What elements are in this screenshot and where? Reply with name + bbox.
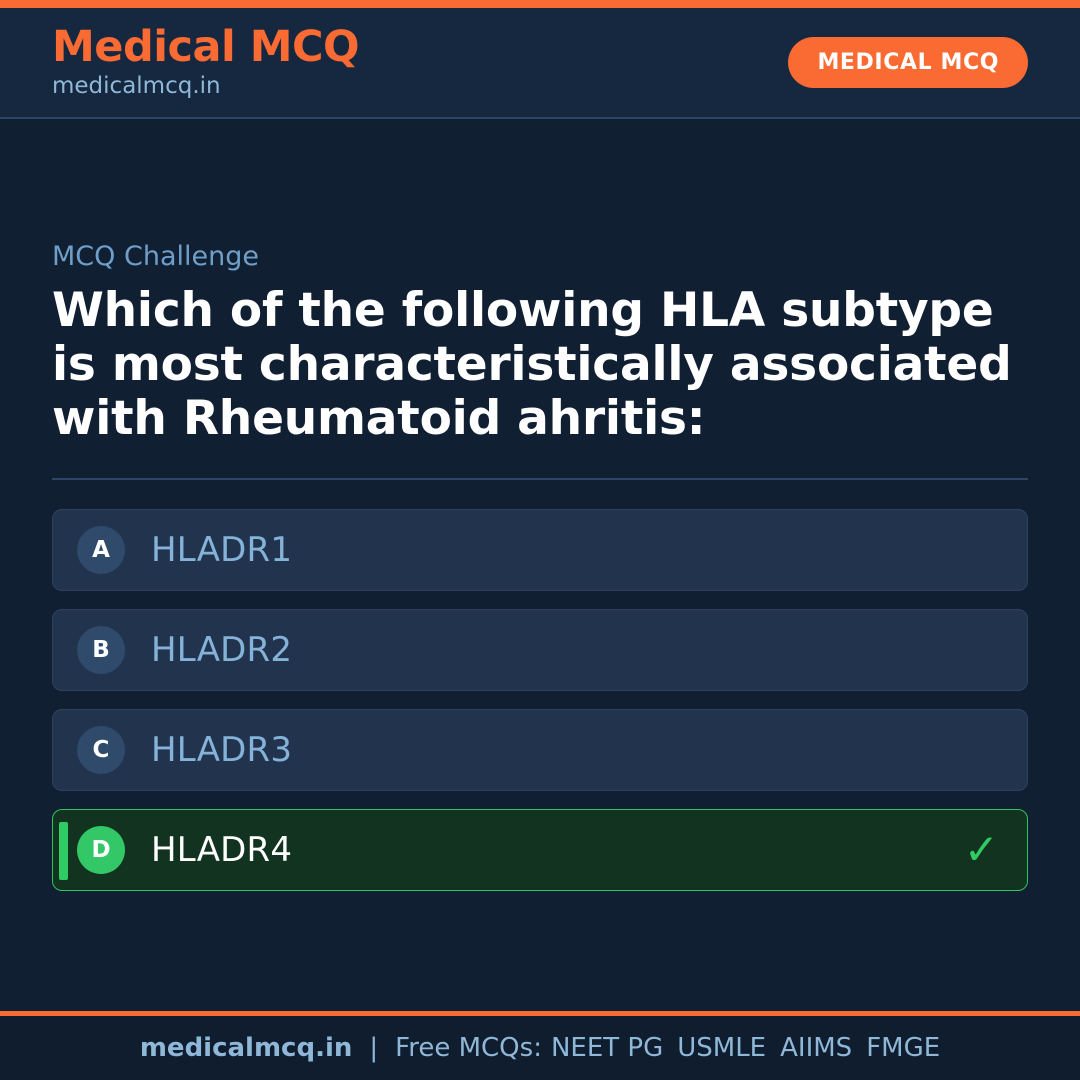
header-bar: Medical MCQ medicalmcq.in MEDICAL MCQ (0, 8, 1080, 119)
footer-label: Free MCQs: (395, 1033, 542, 1063)
option-letter-badge: C (77, 726, 125, 774)
option-label: HLADR3 (151, 730, 292, 770)
footer-exams: NEET PGUSMLEAIIMSFMGE (551, 1033, 940, 1063)
option-letter-badge: B (77, 626, 125, 674)
footer-exam-usmle: USMLE (677, 1033, 766, 1063)
question-kicker: MCQ Challenge (52, 241, 1028, 273)
options-list: AHLADR1BHLADR2CHLADR3DHLADR4✓ (52, 509, 1028, 891)
question-text: Which of the following HLA subtype is mo… (52, 284, 1028, 445)
footer-site: medicalmcq.in (140, 1033, 353, 1063)
mcq-card: Medical MCQ medicalmcq.in MEDICAL MCQ MC… (0, 0, 1080, 1080)
brand-badge: MEDICAL MCQ (788, 37, 1028, 88)
question-divider (52, 478, 1028, 480)
option-letter-badge: A (77, 526, 125, 574)
option-label: HLADR4 (151, 830, 292, 870)
option-b[interactable]: BHLADR2 (52, 609, 1028, 691)
check-icon: ✓ (964, 829, 999, 871)
brand-title: Medical MCQ (52, 25, 359, 70)
option-d[interactable]: DHLADR4✓ (52, 809, 1028, 891)
brand-subtitle: medicalmcq.in (52, 72, 359, 101)
footer-exam-neet-pg: NEET PG (551, 1033, 663, 1063)
correct-accent-bar (59, 822, 68, 880)
option-label: HLADR1 (151, 530, 292, 570)
brand: Medical MCQ medicalmcq.in (52, 25, 359, 101)
footer-separator: | (369, 1033, 378, 1063)
footer-exam-fmge: FMGE (866, 1033, 940, 1063)
option-c[interactable]: CHLADR3 (52, 709, 1028, 791)
footer-text: medicalmcq.in | Free MCQs: NEET PGUSMLEA… (140, 1033, 940, 1063)
footer-exam-aiims: AIIMS (780, 1033, 852, 1063)
option-letter-badge: D (77, 826, 125, 874)
main-content: MCQ Challenge Which of the following HLA… (0, 119, 1080, 1011)
footer-bar: medicalmcq.in | Free MCQs: NEET PGUSMLEA… (0, 1011, 1080, 1080)
top-accent-strip (0, 0, 1080, 8)
option-label: HLADR2 (151, 630, 292, 670)
option-a[interactable]: AHLADR1 (52, 509, 1028, 591)
